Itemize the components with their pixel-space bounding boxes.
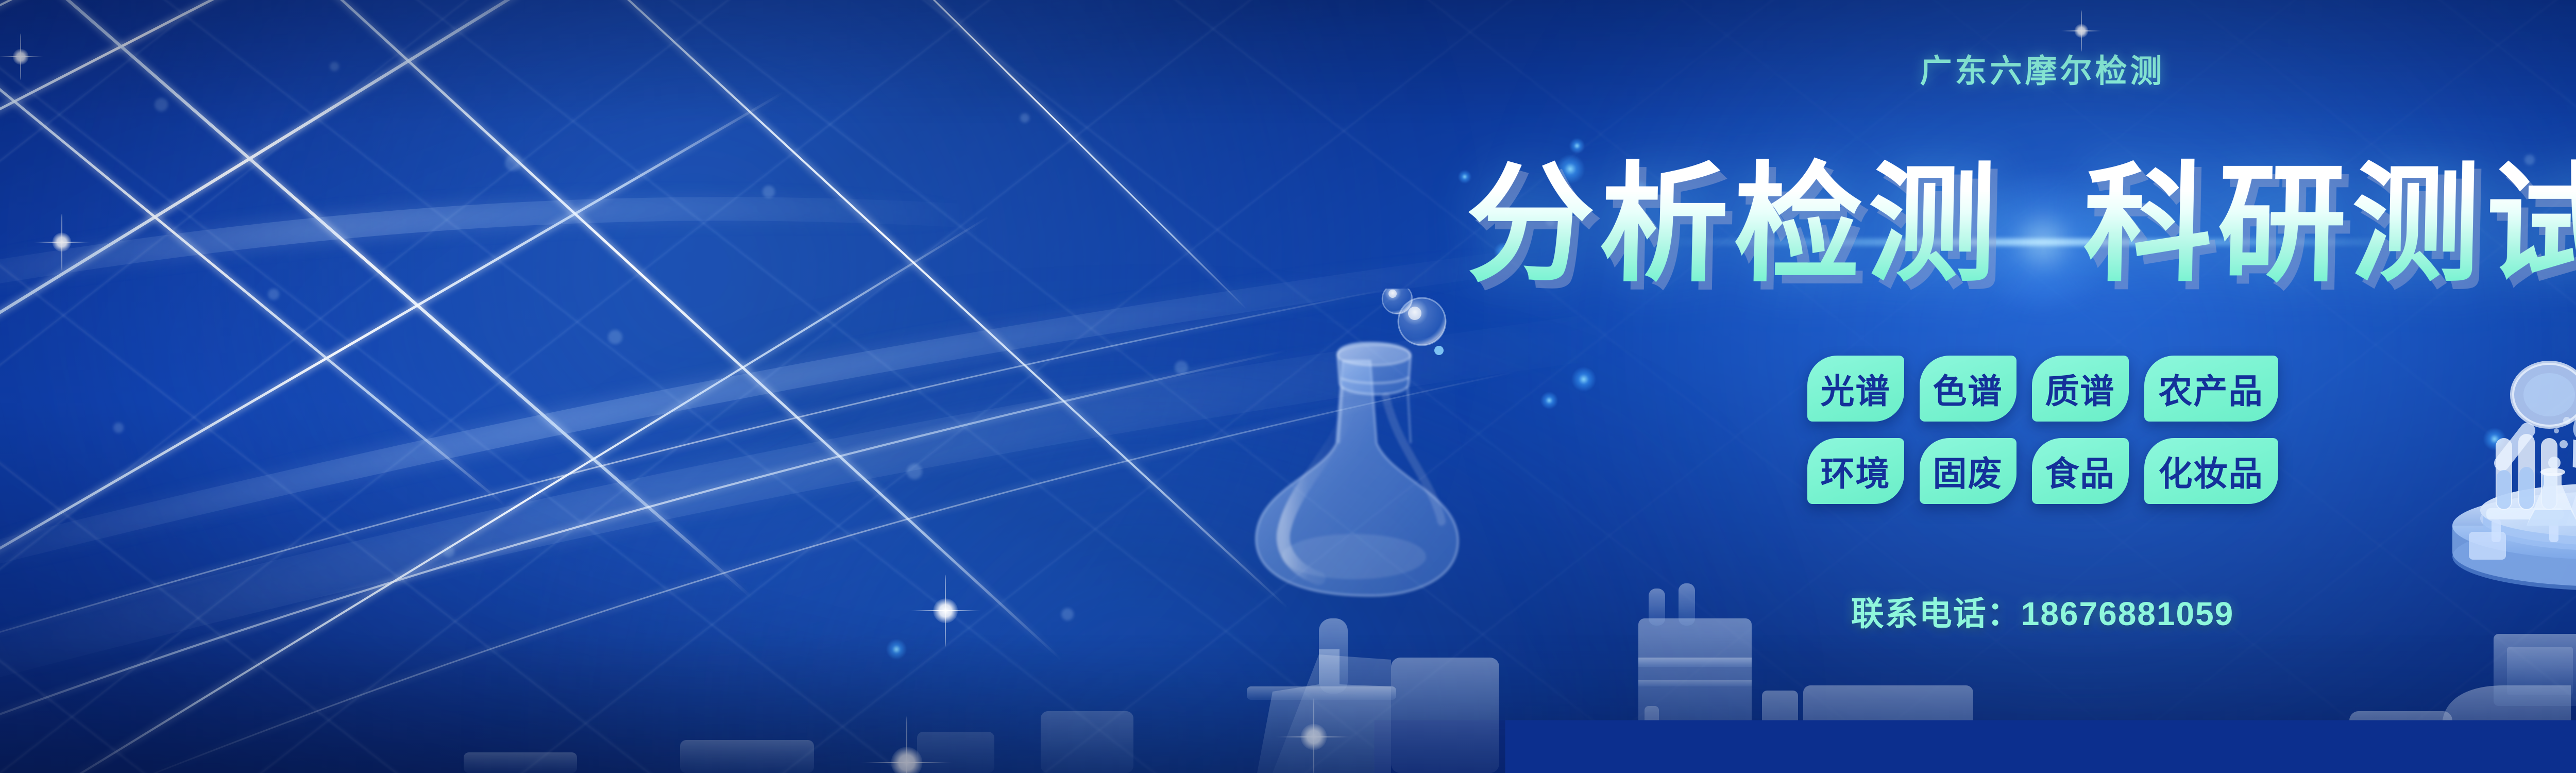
contact-phone[interactable]: 联系电话：18676881059 bbox=[0, 587, 2576, 635]
service-tag[interactable]: 食品 bbox=[2032, 438, 2129, 504]
service-tag-list: 光谱 色谱 质谱 农产品 环境 固废 食品 化妆品 bbox=[0, 356, 2576, 504]
service-tag[interactable]: 环境 bbox=[1807, 438, 1904, 504]
service-tag[interactable]: 化妆品 bbox=[2144, 438, 2278, 504]
service-tag-row-2: 环境 固废 食品 化妆品 bbox=[1807, 438, 2278, 504]
service-tag[interactable]: 农产品 bbox=[2144, 356, 2278, 422]
banner-content: 广东六摩尔检测 分析检测 科研测试 光谱 色谱 质谱 农产品 环境 固废 食品 … bbox=[0, 0, 2576, 773]
service-tag[interactable]: 质谱 bbox=[2032, 356, 2129, 422]
service-tag-row-1: 光谱 色谱 质谱 农产品 bbox=[1807, 356, 2278, 422]
promo-banner: 广东六摩尔检测 分析检测 科研测试 光谱 色谱 质谱 农产品 环境 固废 食品 … bbox=[0, 0, 2576, 773]
brand-name: 广东六摩尔检测 bbox=[0, 56, 2576, 88]
service-tag[interactable]: 光谱 bbox=[1807, 356, 1904, 422]
page-title: 分析检测 科研测试 bbox=[0, 153, 2576, 297]
service-tag[interactable]: 固废 bbox=[1920, 438, 2016, 504]
service-tag[interactable]: 色谱 bbox=[1920, 356, 2016, 422]
